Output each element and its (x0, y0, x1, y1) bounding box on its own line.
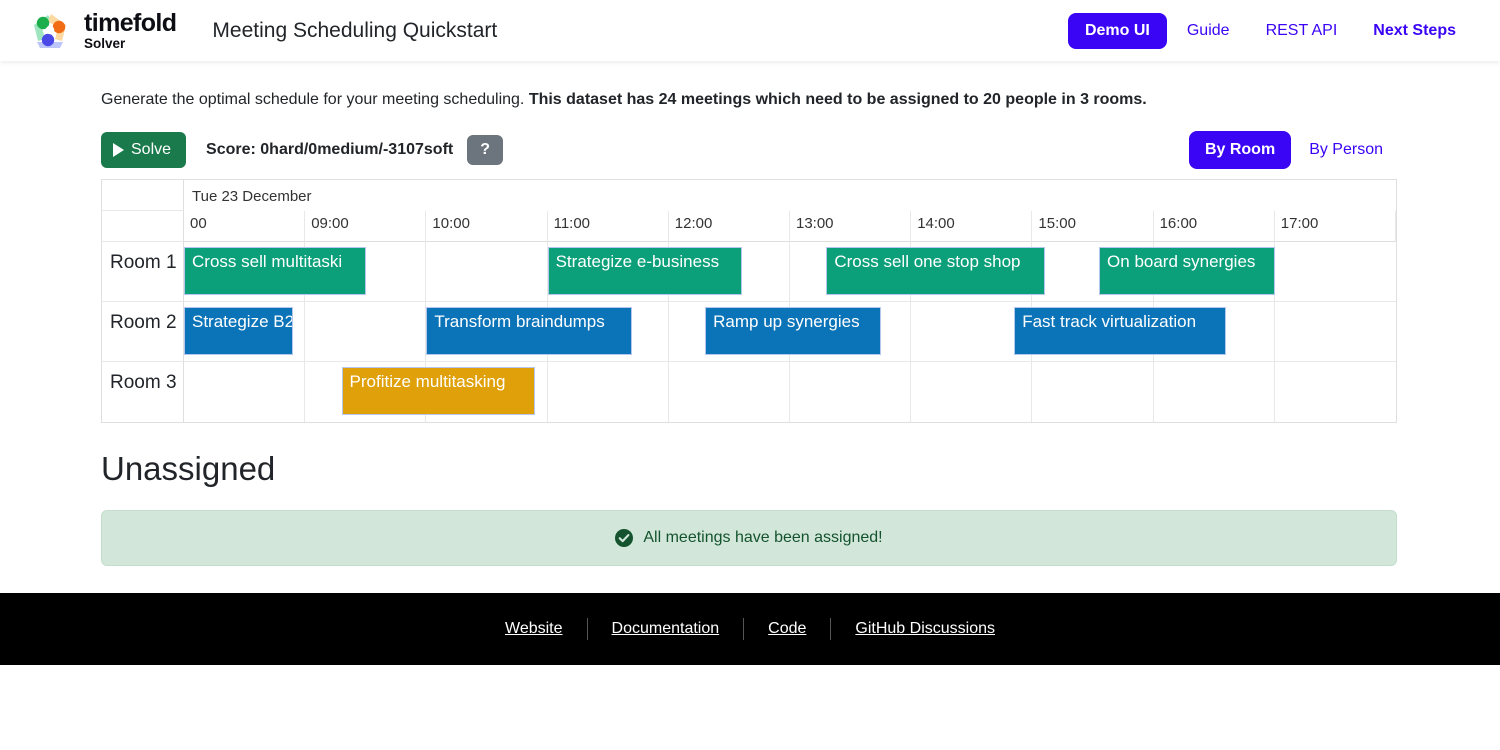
room-label-3: Room 3 (102, 362, 184, 422)
page-footer: WebsiteDocumentationCodeGitHub Discussio… (0, 593, 1500, 665)
time-header-09-00: 09:00 (305, 211, 426, 242)
time-header-11-00: 11:00 (548, 211, 669, 242)
meeting-block[interactable]: Strategize e-business (548, 247, 742, 295)
schedule-grid: Tue 23 December0009:0010:0011:0012:0013:… (101, 179, 1397, 423)
meeting-block[interactable]: On board synergies (1099, 247, 1275, 295)
brand-name: timefold (84, 11, 176, 36)
alert-message: All meetings have been assigned! (643, 529, 882, 547)
nav-rest-api[interactable]: REST API (1250, 13, 1354, 49)
nav-guide[interactable]: Guide (1171, 13, 1246, 49)
all-assigned-alert: All meetings have been assigned! (101, 510, 1397, 566)
time-slot[interactable] (548, 362, 669, 422)
time-header-14-00: 14:00 (911, 211, 1032, 242)
lead-text-normal: Generate the optimal schedule for your m… (101, 91, 529, 108)
lead-text-bold: This dataset has 24 meetings which need … (529, 91, 1147, 108)
check-circle-icon (615, 529, 633, 547)
score-label: Score: 0hard/0medium/-3107soft (206, 141, 453, 159)
page-title: Meeting Scheduling Quickstart (212, 19, 497, 43)
time-slot[interactable] (305, 302, 426, 362)
time-slot[interactable] (1275, 302, 1396, 362)
footer-link-github-discussions[interactable]: GitHub Discussions (831, 620, 1019, 638)
meeting-block[interactable]: Ramp up synergies (705, 307, 881, 355)
meeting-block[interactable]: Profitize multitasking (342, 367, 536, 415)
solve-button-label: Solve (131, 141, 171, 159)
time-slot[interactable] (184, 362, 305, 422)
time-header-15-00: 15:00 (1032, 211, 1153, 242)
time-slot[interactable] (1275, 242, 1396, 302)
time-slot[interactable] (911, 362, 1032, 422)
brand-logo[interactable]: timefold Solver (28, 11, 176, 51)
room-row-1: Cross sell multitaskiStrategize e-busine… (184, 242, 1396, 302)
time-slot[interactable] (1154, 362, 1275, 422)
time-slot[interactable] (669, 362, 790, 422)
room-label-2: Room 2 (102, 302, 184, 362)
time-header-17-00: 17:00 (1275, 211, 1396, 242)
time-slot[interactable] (1032, 362, 1153, 422)
view-toggle-group: By Room By Person (1189, 131, 1399, 169)
timefold-logo-icon (28, 11, 72, 51)
nav-next-steps[interactable]: Next Steps (1357, 13, 1472, 49)
room-label-1: Room 1 (102, 242, 184, 302)
footer-link-code[interactable]: Code (744, 620, 830, 638)
meeting-block[interactable]: Transform braindumps (426, 307, 632, 355)
footer-links: WebsiteDocumentationCodeGitHub Discussio… (481, 618, 1019, 640)
schedule-date-label: Tue 23 December (184, 180, 1396, 211)
by-person-button[interactable]: By Person (1293, 131, 1399, 169)
help-button[interactable]: ? (467, 135, 503, 165)
meeting-block[interactable]: Strategize B2 (184, 307, 293, 355)
nav-links: Demo UI Guide REST API Next Steps (1068, 13, 1472, 49)
time-header-10-00: 10:00 (426, 211, 547, 242)
footer-link-documentation[interactable]: Documentation (588, 620, 744, 638)
by-room-button[interactable]: By Room (1189, 131, 1291, 169)
schedule-corner-cell (102, 180, 184, 211)
time-header-13-00: 13:00 (790, 211, 911, 242)
time-header-16-00: 16:00 (1154, 211, 1275, 242)
time-header-12-00: 12:00 (669, 211, 790, 242)
unassigned-heading: Unassigned (101, 450, 1399, 488)
dataset-description: Generate the optimal schedule for your m… (101, 88, 1399, 112)
meeting-block[interactable]: Cross sell one stop shop (826, 247, 1044, 295)
schedule-corner-cell-2 (102, 211, 184, 242)
brand-subtitle: Solver (84, 37, 176, 51)
time-slot[interactable] (426, 242, 547, 302)
toolbar: Solve Score: 0hard/0medium/-3107soft ? B… (101, 130, 1399, 170)
time-header-00: 00 (184, 211, 305, 242)
time-slot[interactable] (790, 362, 911, 422)
room-row-3: Profitize multitasking (184, 362, 1396, 422)
solve-button[interactable]: Solve (101, 132, 186, 168)
meeting-block[interactable]: Cross sell multitaski (184, 247, 366, 295)
nav-demo-ui[interactable]: Demo UI (1068, 13, 1167, 49)
room-row-2: Strategize B2Transform braindumpsRamp up… (184, 302, 1396, 362)
footer-link-website[interactable]: Website (481, 620, 587, 638)
meeting-block[interactable]: Fast track virtualization (1014, 307, 1226, 355)
top-navbar: timefold Solver Meeting Scheduling Quick… (0, 0, 1500, 61)
main-content: Generate the optimal schedule for your m… (0, 88, 1500, 566)
play-icon (113, 143, 124, 157)
time-slot[interactable] (1275, 362, 1396, 422)
